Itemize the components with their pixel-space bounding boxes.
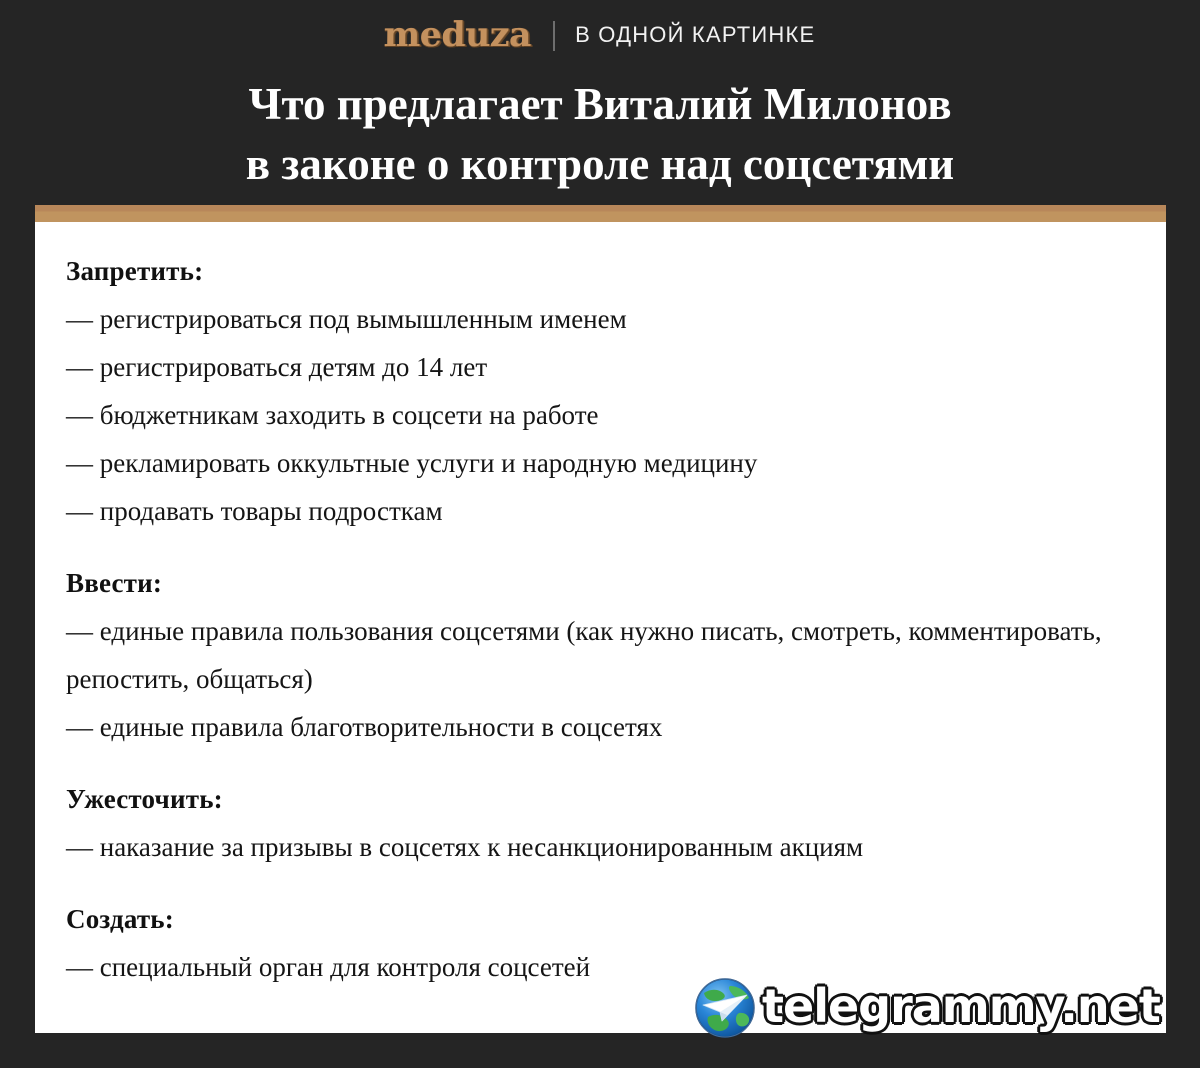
section-vvesti: Ввести: — единые правила пользования соц… [66, 559, 1126, 751]
page-title-line-1: Что предлагает Виталий Милонов [0, 74, 1200, 134]
section-heading: Ужесточить: [66, 775, 1126, 823]
section-heading: Запретить: [66, 247, 1126, 295]
card-body: Запретить: — регистрироваться под вымышл… [35, 222, 1166, 991]
meduza-logo[interactable]: meduza [383, 18, 531, 55]
list-item: — регистрироваться детям до 14 лет [66, 343, 1126, 391]
masthead-tagline: В ОДНОЙ КАРТИНКЕ [575, 22, 815, 50]
section-zapretit: Запретить: — регистрироваться под вымышл… [66, 247, 1126, 535]
vertical-divider-icon [553, 21, 555, 51]
list-item: — наказание за призывы в соцсетях к неса… [66, 823, 1126, 871]
card-accent-bar [35, 205, 1166, 222]
masthead: meduza В ОДНОЙ КАРТИНКЕ [0, 0, 1200, 72]
list-item: — продавать товары подросткам [66, 487, 1126, 535]
page-title: Что предлагает Виталий Милонов в законе … [0, 74, 1200, 194]
infographic-root: meduza В ОДНОЙ КАРТИНКЕ Что предлагает В… [0, 0, 1200, 1068]
section-uzhestochit: Ужесточить: — наказание за призывы в соц… [66, 775, 1126, 871]
section-heading: Создать: [66, 895, 1126, 943]
list-item: — специальный орган для контроля соцсете… [66, 943, 1126, 991]
list-item: — бюджетникам заходить в соцсети на рабо… [66, 391, 1126, 439]
list-item: — единые правила пользования соцсетями (… [66, 607, 1126, 703]
content-card: Запретить: — регистрироваться под вымышл… [35, 205, 1166, 1033]
list-item: — регистрироваться под вымышленным имене… [66, 295, 1126, 343]
section-sozdat: Создать: — специальный орган для контрол… [66, 895, 1126, 991]
page-title-line-2: в законе о контроле над соцсетями [0, 134, 1200, 194]
section-heading: Ввести: [66, 559, 1126, 607]
list-item: — единые правила благотворительности в с… [66, 703, 1126, 751]
list-item: — рекламировать оккультные услуги и наро… [66, 439, 1126, 487]
